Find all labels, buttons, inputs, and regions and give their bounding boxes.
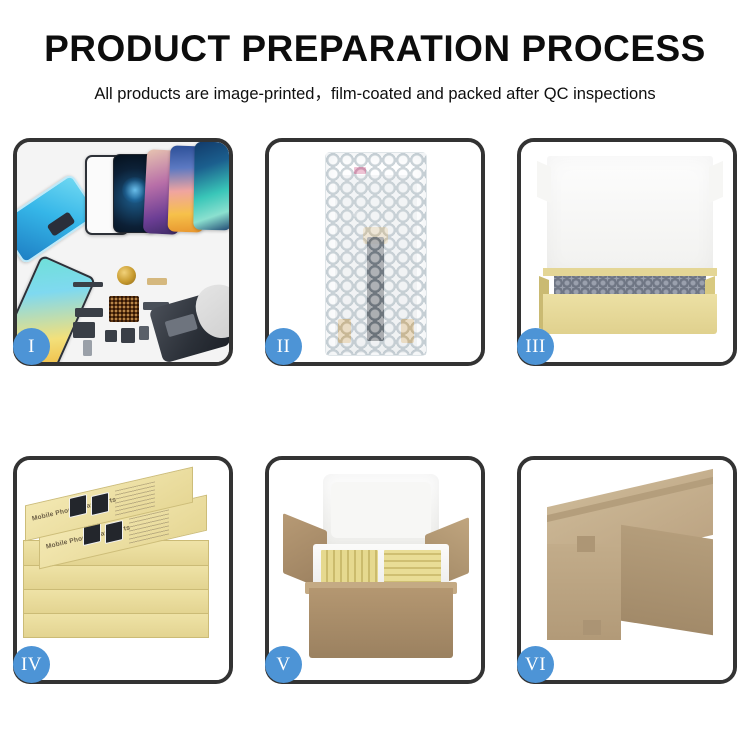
stacked-box-5: [23, 612, 209, 638]
page-header: PRODUCT PREPARATION PROCESS All products…: [0, 0, 750, 104]
panel-1-image: [17, 142, 229, 362]
foam-lid-open: [323, 474, 439, 548]
part-strip-1: [73, 282, 103, 287]
part-small-1: [105, 330, 117, 342]
box-label-screen-4: [105, 520, 123, 544]
box-stack: Mobile Phone Spare Parts Mobile Phone Sp…: [17, 472, 229, 672]
box-yellow-front: [543, 294, 717, 334]
pink-sticker: [354, 167, 366, 174]
carton-tab-upper: [577, 536, 595, 552]
page-title: PRODUCT PREPARATION PROCESS: [0, 30, 750, 69]
step-badge-5: V: [265, 646, 302, 683]
step-badge-3: III: [517, 328, 554, 365]
screw-grid-part: [109, 296, 139, 322]
gold-coil-part: [117, 266, 136, 285]
spare-parts-cluster: [69, 264, 229, 362]
part-flex-2: [73, 322, 95, 338]
panel-2-image: [269, 142, 481, 362]
part-flex-1: [75, 308, 103, 317]
bag-tab-left: [338, 319, 351, 343]
process-panel-grid: I II III: [13, 138, 737, 684]
carton-tab-lower: [583, 620, 601, 635]
page-subtitle: All products are image-printed，film-coat…: [0, 80, 750, 104]
panel-3-image: [521, 142, 733, 362]
step-badge-4: IV: [13, 646, 50, 683]
stacked-box-4: [23, 588, 209, 614]
panel-6-image: [521, 460, 733, 680]
box-label-screen-2: [91, 492, 109, 516]
bag-bottom-tabs: [338, 319, 414, 345]
box-rim: [543, 268, 717, 276]
carton-right-face: [621, 525, 713, 636]
carton-front-panel: [309, 588, 453, 658]
box-label-screen-1: [69, 494, 87, 518]
process-step-panel-3[interactable]: III: [517, 138, 737, 366]
bubble-wrap-bag: [325, 152, 427, 356]
process-step-panel-6[interactable]: VI: [517, 456, 737, 684]
process-step-panel-1[interactable]: I: [13, 138, 233, 366]
part-small-4: [83, 340, 92, 356]
process-step-panel-2[interactable]: II: [265, 138, 485, 366]
box-white-lid: [547, 156, 713, 276]
part-strip-2: [147, 278, 167, 285]
part-small-3: [139, 326, 149, 340]
process-step-panel-4[interactable]: Mobile Phone Spare Parts Mobile Phone Sp…: [13, 456, 233, 684]
step-badge-2: II: [265, 328, 302, 365]
step-badge-6: VI: [517, 646, 554, 683]
panel-5-image: [269, 460, 481, 680]
part-small-2: [121, 328, 135, 343]
panel-4-image: Mobile Phone Spare Parts Mobile Phone Sp…: [17, 460, 229, 680]
phone-teal-gradient: [193, 142, 229, 230]
bag-tab-right: [401, 319, 414, 343]
process-step-panel-5[interactable]: V: [265, 456, 485, 684]
stacked-box-3: [23, 564, 209, 590]
step-badge-1: I: [13, 328, 50, 365]
